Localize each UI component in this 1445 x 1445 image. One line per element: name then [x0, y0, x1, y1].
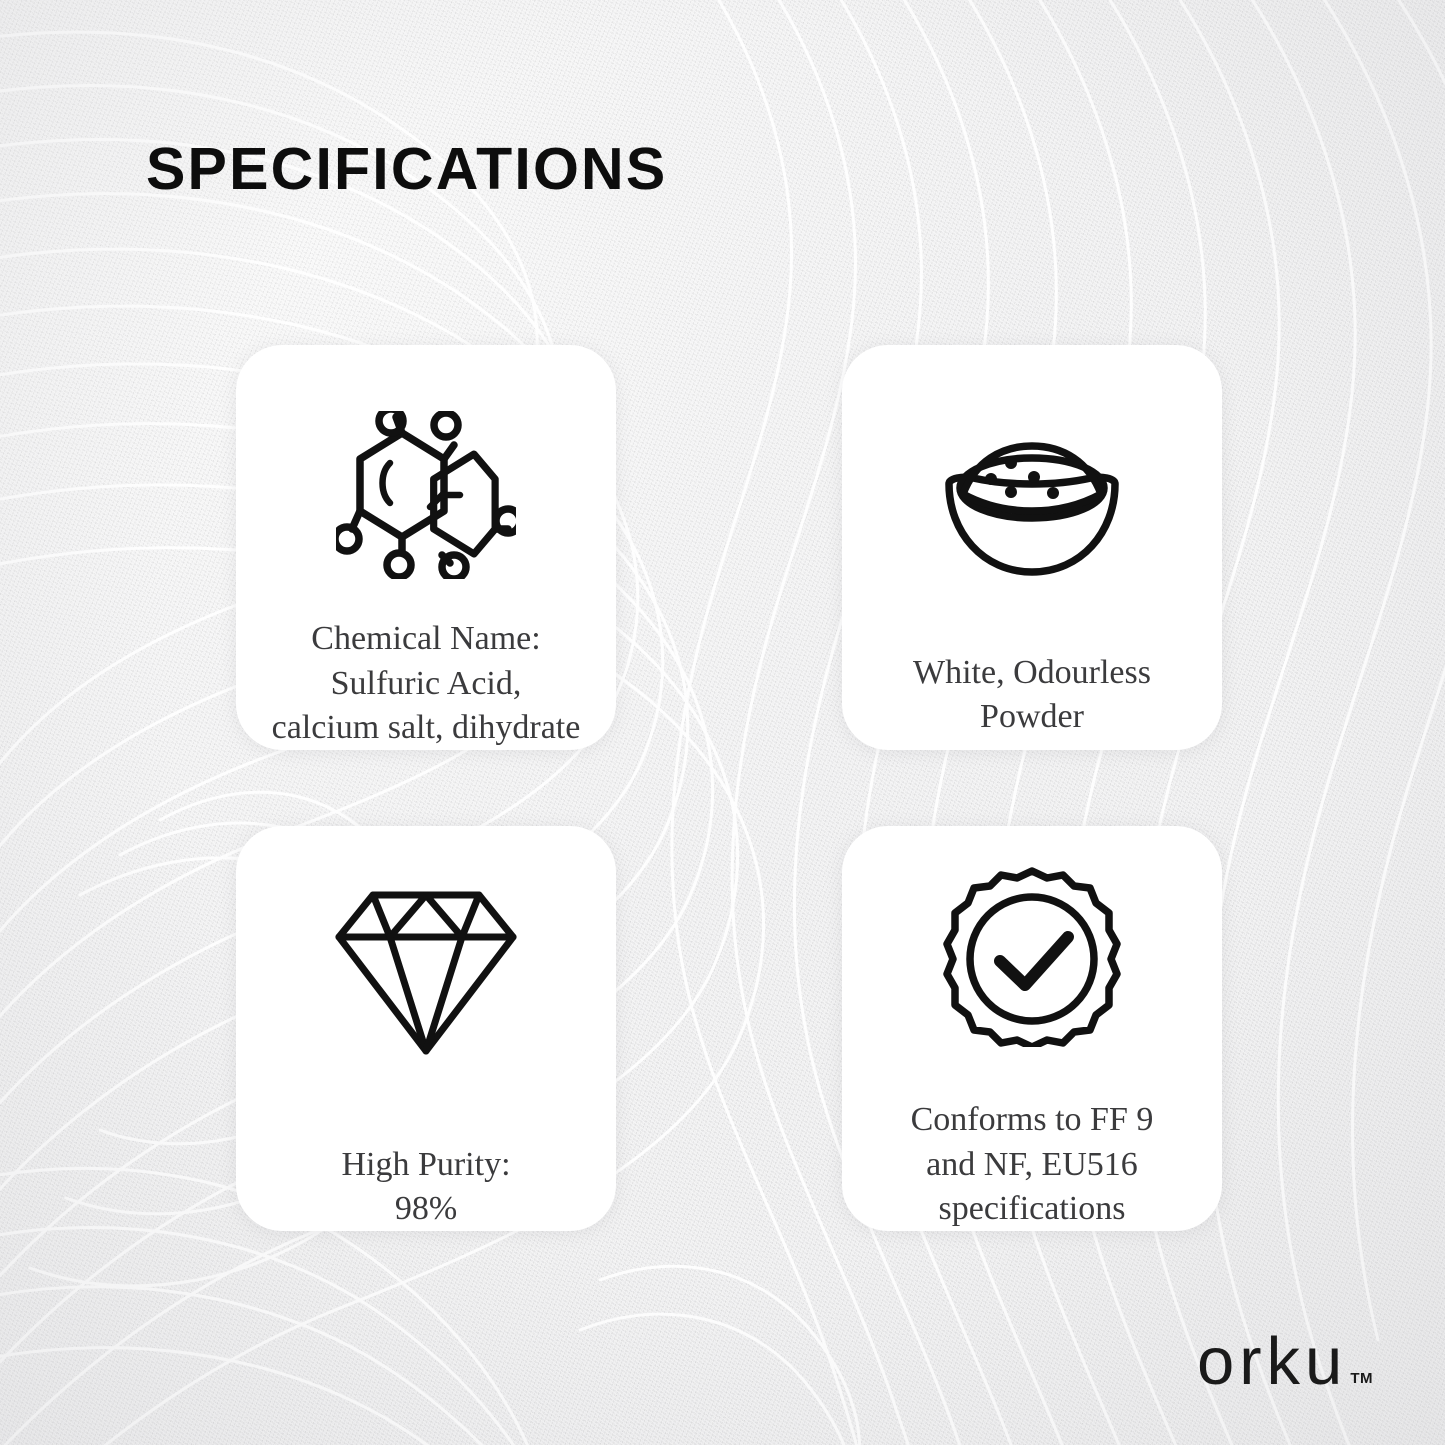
powder-bowl-icon [939, 407, 1125, 607]
spec-card-appearance: White, Odourless Powder [842, 345, 1222, 750]
spec-line: specifications [911, 1187, 1154, 1231]
spec-card-chemical-name: Chemical Name: Sulfuric Acid, calcium sa… [236, 345, 616, 750]
molecule-icon [336, 395, 516, 595]
diamond-icon [333, 866, 519, 1081]
certified-badge-icon [941, 856, 1123, 1056]
spec-line: Powder [913, 695, 1151, 739]
spec-card-purity: High Purity: 98% [236, 826, 616, 1231]
brand-logo: orku TM [1197, 1331, 1373, 1393]
spec-line: calcium salt, dihydrate [272, 706, 581, 750]
spec-line: Sulfuric Acid, [272, 662, 581, 706]
spec-line: Conforms to FF 9 [911, 1098, 1154, 1142]
spec-line: White, Odourless [913, 651, 1151, 695]
specifications-card-grid: Chemical Name: Sulfuric Acid, calcium sa… [236, 345, 1206, 1231]
spec-card-appearance-text: White, Odourless Powder [901, 651, 1163, 739]
spec-line: High Purity: [341, 1143, 510, 1187]
brand-logo-wordmark: orku [1197, 1331, 1347, 1393]
spec-line: 98% [341, 1187, 510, 1231]
page-title: SPECIFICATIONS [146, 140, 667, 199]
spec-line: Chemical Name: [272, 617, 581, 661]
spec-card-purity-text: High Purity: 98% [329, 1143, 522, 1231]
specifications-graphic: SPECIFICATIONS [0, 0, 1445, 1445]
spec-line: and NF, EU516 [911, 1143, 1154, 1187]
spec-card-chemical-name-text: Chemical Name: Sulfuric Acid, calcium sa… [260, 617, 593, 750]
spec-card-conformance: Conforms to FF 9 and NF, EU516 specifica… [842, 826, 1222, 1231]
trademark-symbol: TM [1350, 1370, 1373, 1387]
spec-card-conformance-text: Conforms to FF 9 and NF, EU516 specifica… [899, 1098, 1166, 1231]
